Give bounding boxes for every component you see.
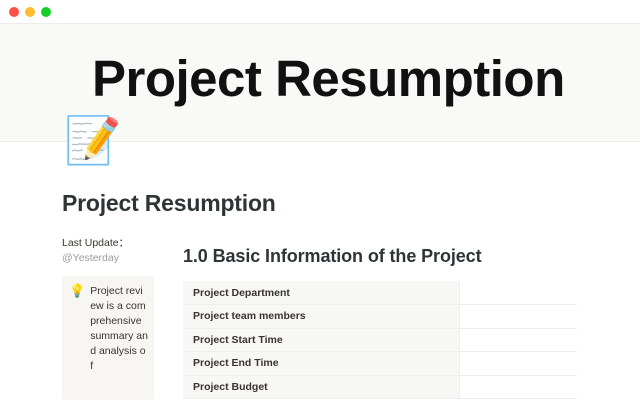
lightbulb-emoji-icon: 💡 bbox=[69, 284, 85, 298]
table-cell-key: Project Department bbox=[183, 281, 459, 305]
table-cell-key: Project Budget bbox=[183, 375, 459, 399]
table-row[interactable]: Project Department bbox=[183, 281, 577, 305]
window-titlebar bbox=[0, 0, 640, 24]
section-heading: 1.0 Basic Information of the Project bbox=[183, 246, 577, 267]
table-cell-value[interactable] bbox=[459, 281, 577, 305]
cover-title: Project Resumption bbox=[92, 52, 565, 106]
minimize-button[interactable] bbox=[25, 7, 35, 17]
page-title: Project Resumption bbox=[62, 190, 276, 217]
maximize-button[interactable] bbox=[41, 7, 51, 17]
table-row[interactable]: Project Budget bbox=[183, 375, 577, 399]
basic-information-section: 1.0 Basic Information of the Project Pro… bbox=[183, 246, 577, 399]
memo-emoji-icon[interactable]: 📝 bbox=[64, 112, 120, 168]
table-row[interactable]: Project team members bbox=[183, 305, 577, 329]
table-cell-value[interactable] bbox=[459, 375, 577, 399]
table-row[interactable]: Project Start Time bbox=[183, 328, 577, 352]
last-update-block: Last Update： @Yesterday bbox=[62, 236, 172, 266]
table-body: Project Department Project team members … bbox=[183, 281, 577, 399]
last-update-label: Last Update： bbox=[62, 236, 172, 251]
basic-information-table: Project Department Project team members … bbox=[183, 281, 577, 399]
page-content: Project Resumption Last Update： @Yesterd… bbox=[0, 176, 640, 400]
table-cell-value[interactable] bbox=[459, 305, 577, 329]
close-button[interactable] bbox=[9, 7, 19, 17]
callout-text: Project review is a comprehensive summar… bbox=[90, 284, 148, 374]
table-cell-value[interactable] bbox=[459, 328, 577, 352]
table-cell-key: Project End Time bbox=[183, 352, 459, 376]
callout-block[interactable]: 💡 Project review is a comprehensive summ… bbox=[62, 276, 154, 400]
window-controls bbox=[9, 7, 51, 17]
table-cell-value[interactable] bbox=[459, 352, 577, 376]
table-row[interactable]: Project End Time bbox=[183, 352, 577, 376]
table-cell-key: Project team members bbox=[183, 305, 459, 329]
table-cell-key: Project Start Time bbox=[183, 328, 459, 352]
app-window: Project Resumption 📝 Project Resumption … bbox=[0, 0, 640, 400]
last-update-value[interactable]: @Yesterday bbox=[62, 251, 172, 266]
